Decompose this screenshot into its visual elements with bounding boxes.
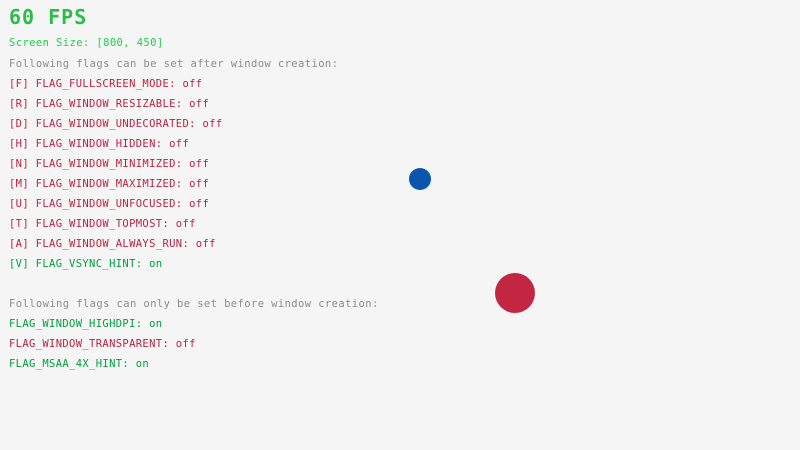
- red-ball: [495, 273, 535, 313]
- blue-ball: [409, 168, 431, 190]
- flag-line-flag-window-resizable[interactable]: [R] FLAG_WINDOW_RESIZABLE: off: [9, 99, 209, 110]
- flag-line-flag-window-undecorated[interactable]: [D] FLAG_WINDOW_UNDECORATED: off: [9, 119, 223, 130]
- flag-line-flag-window-always-run[interactable]: [A] FLAG_WINDOW_ALWAYS_RUN: off: [9, 239, 216, 250]
- section-header-after-creation: Following flags can be set after window …: [9, 59, 338, 70]
- section-header-before-creation: Following flags can only be set before w…: [9, 299, 379, 310]
- flag-line-flag-window-maximized[interactable]: [M] FLAG_WINDOW_MAXIMIZED: off: [9, 179, 209, 190]
- flag-line-flag-vsync-hint[interactable]: [V] FLAG_VSYNC_HINT: on: [9, 259, 162, 270]
- flag-line-flag-fullscreen-mode[interactable]: [F] FLAG_FULLSCREEN_MODE: off: [9, 79, 202, 90]
- flag-line-flag-msaa-4x-hint[interactable]: FLAG_MSAA_4X_HINT: on: [9, 359, 149, 370]
- flag-line-flag-window-highdpi[interactable]: FLAG_WINDOW_HIGHDPI: on: [9, 319, 162, 330]
- flag-line-flag-window-hidden[interactable]: [H] FLAG_WINDOW_HIDDEN: off: [9, 139, 189, 150]
- screen-size-label: Screen Size: [800, 450]: [9, 38, 164, 49]
- flag-line-flag-window-transparent[interactable]: FLAG_WINDOW_TRANSPARENT: off: [9, 339, 196, 350]
- raylib-window-canvas: 60 FPS Screen Size: [800, 450] Following…: [0, 0, 800, 450]
- fps-counter: 60 FPS: [9, 7, 87, 27]
- flag-line-flag-window-unfocused[interactable]: [U] FLAG_WINDOW_UNFOCUSED: off: [9, 199, 209, 210]
- flag-line-flag-window-topmost[interactable]: [T] FLAG_WINDOW_TOPMOST: off: [9, 219, 196, 230]
- flag-line-flag-window-minimized[interactable]: [N] FLAG_WINDOW_MINIMIZED: off: [9, 159, 209, 170]
